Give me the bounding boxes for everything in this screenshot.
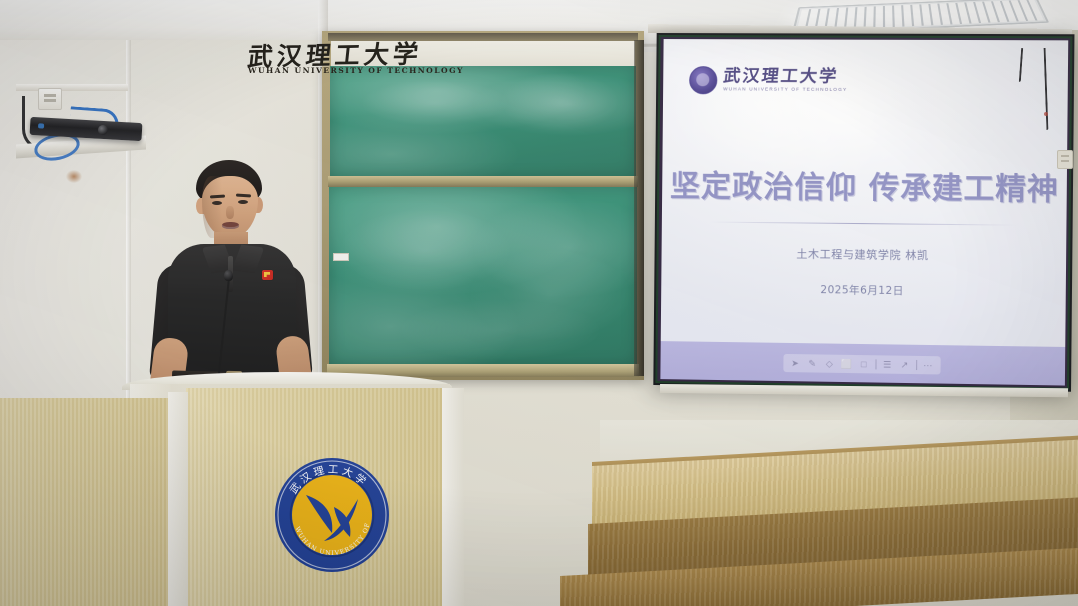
wall-mark xyxy=(1044,112,1048,116)
lecture-hall-scene: 武汉理工大学 WUHAN UNIVERSITY OF TECHNOLOGY 坚定… xyxy=(0,0,1078,606)
shape-icon[interactable]: □ xyxy=(858,358,870,370)
slide-date: 2025年6月12日 xyxy=(661,280,1066,300)
wall-stain xyxy=(66,170,82,183)
pen-icon[interactable]: ✎ xyxy=(806,357,818,369)
wood-grain xyxy=(0,398,168,606)
podium-panel-gap xyxy=(168,392,188,606)
blackboard-upper-panel xyxy=(330,66,636,179)
toolbar-separator xyxy=(875,359,876,369)
wall-edge-highlight xyxy=(126,0,131,400)
podium-university-emblem: 武汉理工大学 WUHAN UNIVERSITY OF TECHNOLOGY xyxy=(272,455,392,575)
pointer-icon[interactable]: ➤ xyxy=(789,357,801,369)
slide-title: 坚定政治信仰 传承建工精神 xyxy=(662,161,1067,209)
blackboard-middle-rail xyxy=(328,176,638,187)
wall-outlet-right xyxy=(1057,150,1073,169)
blackboard-lower-panel xyxy=(329,187,637,366)
presenter-toolbar[interactable]: ➤ ✎ ◇ ⬜ □ ☰ ↗ ⋯ xyxy=(783,354,940,375)
podium-right-edge xyxy=(442,388,464,606)
mouth xyxy=(222,222,239,229)
slide-subtitle: 土木工程与建筑学院 林凯 xyxy=(662,244,1067,265)
eraser-icon[interactable]: ⬜ xyxy=(840,358,852,370)
wut-emblem-icon: 武汉理工大学 WUHAN UNIVERSITY OF TECHNOLOGY xyxy=(272,455,392,575)
sensor-lens-icon xyxy=(98,125,109,136)
status-led-icon xyxy=(38,123,44,128)
podium-university-name-en: WUHAN UNIVERSITY OF TECHNOLOGY xyxy=(248,66,464,75)
podium-left-panel xyxy=(0,398,168,606)
eye-right xyxy=(238,200,248,204)
toolbar-separator xyxy=(916,360,917,370)
shelf-bracket xyxy=(16,84,128,91)
speaker-person xyxy=(150,160,350,400)
face-shadow xyxy=(202,176,222,238)
eye-left xyxy=(212,201,222,205)
slide-list-icon[interactable]: ☰ xyxy=(881,358,893,370)
slide-divider-rule xyxy=(710,222,1017,226)
highlighter-icon[interactable]: ◇ xyxy=(823,358,835,370)
expand-icon[interactable]: ↗ xyxy=(898,359,910,371)
more-options-icon[interactable]: ⋯ xyxy=(922,359,934,371)
cpc-party-emblem-pin xyxy=(262,270,273,280)
microphone-head-icon xyxy=(224,270,233,281)
nose xyxy=(226,206,234,219)
podium xyxy=(0,372,472,606)
blackboard-right-shadow xyxy=(634,40,644,376)
